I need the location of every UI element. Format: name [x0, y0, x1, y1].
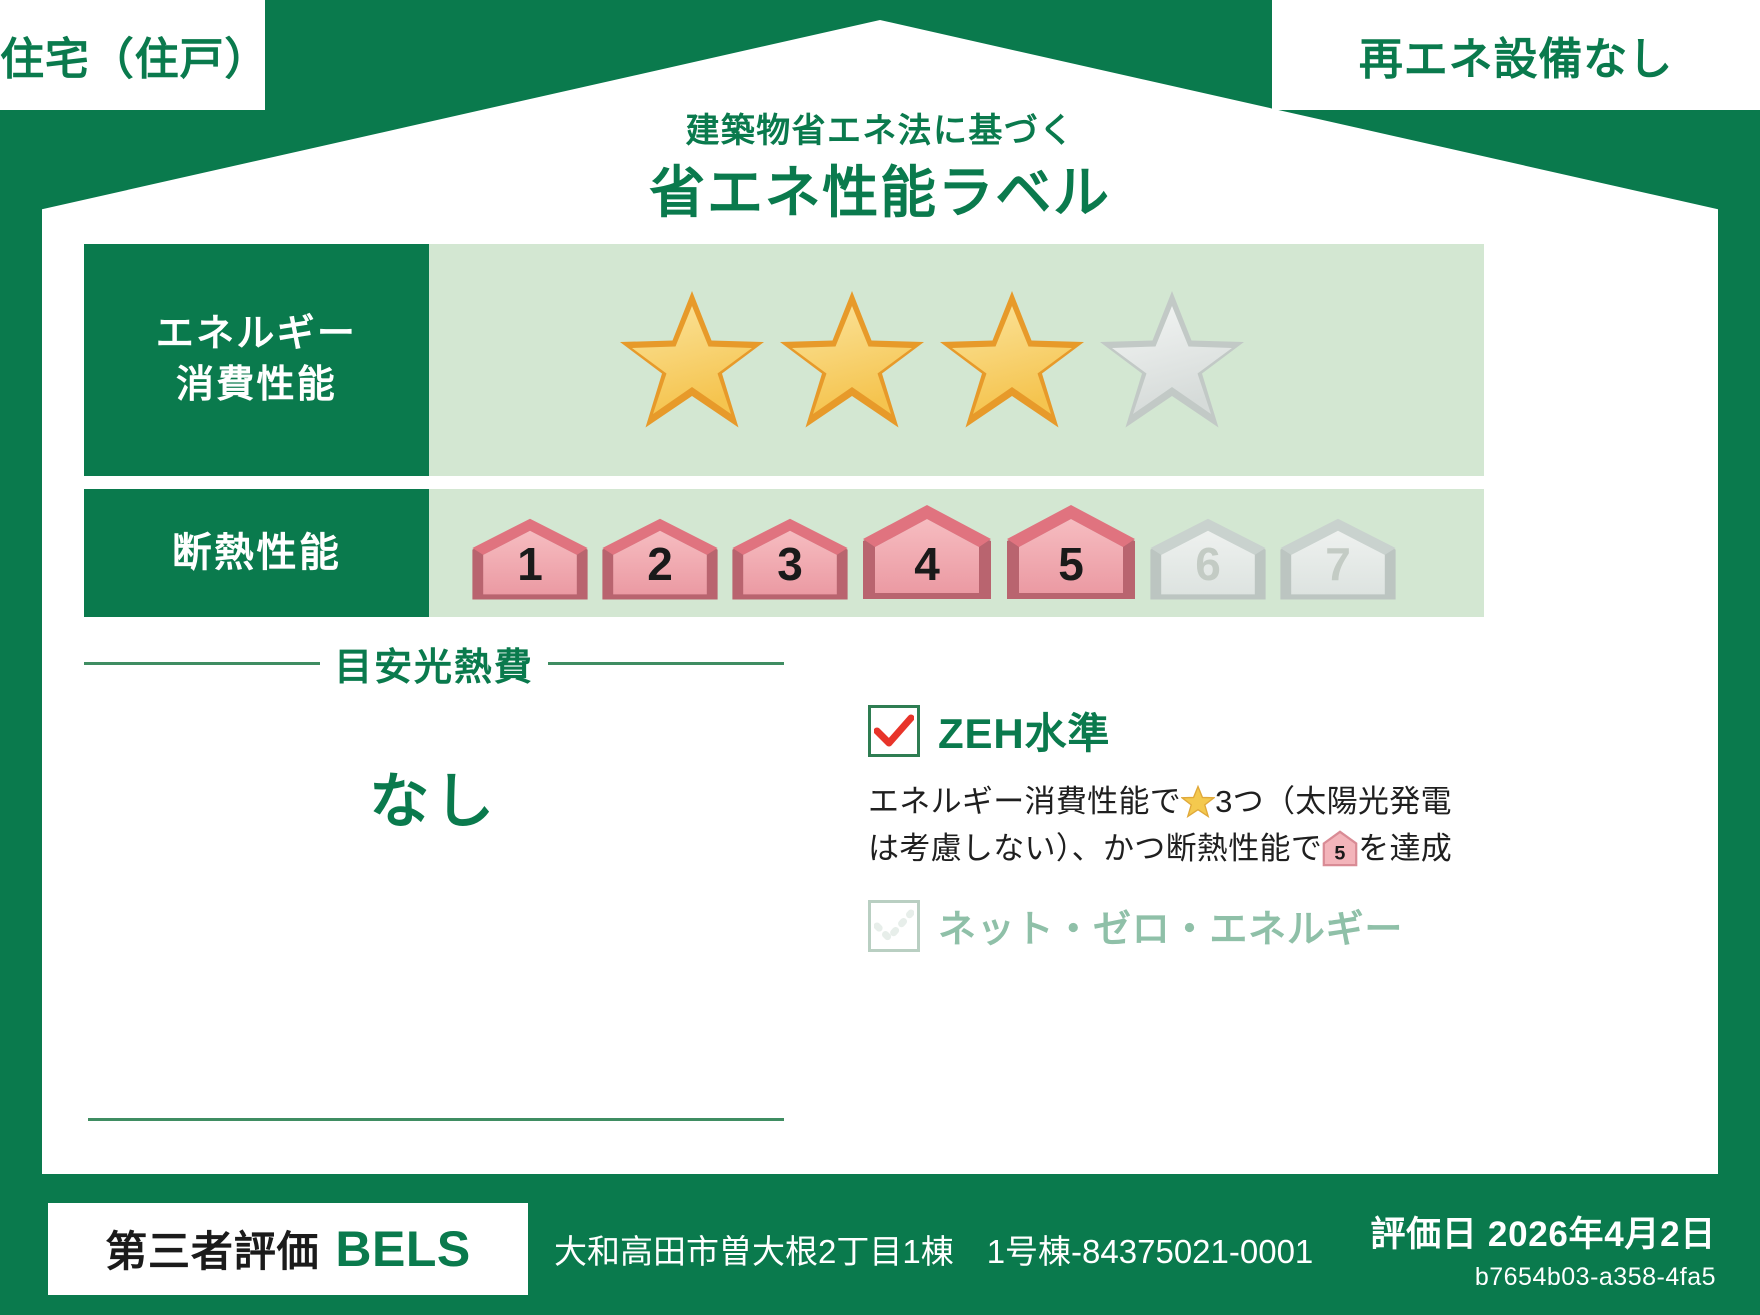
- bels-badge: 第三者評価 BELS: [48, 1203, 528, 1295]
- insulation-label-text: 断熱性能: [172, 526, 342, 580]
- insulation-performance-row: 断熱性能 1234567: [84, 489, 1484, 617]
- property-address: 大和高田市曽大根2丁目1棟 1号棟-84375021-0001: [554, 1225, 1313, 1273]
- zeh-description: エネルギー消費性能で 3つ（太陽光発電 は考慮しない）、かつ断熱性能で 5 を達…: [868, 779, 1484, 872]
- inline-star-icon: [1181, 785, 1215, 818]
- third-party-evaluation-label: 第三者評価: [105, 1218, 319, 1279]
- building-type-label: 住宅（住戸）: [0, 23, 265, 87]
- building-type-badge: 住宅（住戸）: [0, 0, 265, 110]
- utility-cost-title: 目安光熱費: [334, 636, 534, 691]
- insulation-grade-value: 7: [1275, 537, 1401, 591]
- zeh-desc-part2: は考慮しない）、かつ断熱性能で: [868, 831, 1322, 866]
- bels-energy-label: 住宅（住戸） 再エネ設備なし 建築物省エネ法に基づく 省エネ性能ラベル エネルギ…: [0, 0, 1760, 1315]
- evaluation-date: 評価日 2026年4月2日: [1370, 1206, 1716, 1257]
- energy-performance-row: エネルギー 消費性能: [84, 244, 1484, 476]
- insulation-grade-5: 5: [1001, 503, 1141, 603]
- net-zero-checkbox[interactable]: [868, 900, 920, 952]
- net-zero-title: ネット・ゼロ・エネルギー: [938, 898, 1403, 953]
- energy-label-line1: エネルギー: [156, 309, 357, 360]
- inline-grade-icon: 5: [1322, 829, 1358, 867]
- footer: 第三者評価 BELS 大和高田市曽大根2丁目1棟 1号棟-84375021-00…: [0, 1182, 1760, 1315]
- insulation-grade-value: 1: [467, 537, 593, 591]
- net-zero-heading: ネット・ゼロ・エネルギー: [868, 898, 1484, 953]
- insulation-grade-6: 6: [1145, 517, 1271, 603]
- insulation-grade-scale: 1234567: [467, 503, 1401, 603]
- rule-right: [548, 662, 784, 665]
- energy-performance-label: エネルギー 消費性能: [84, 244, 429, 476]
- insulation-grade-1: 1: [467, 517, 593, 603]
- zeh-heading: ZEH水準: [868, 700, 1484, 761]
- utility-cost-underline: [88, 1118, 784, 1121]
- insulation-performance-label: 断熱性能: [84, 489, 429, 617]
- renewable-equipment-label: 再エネ設備なし: [1359, 23, 1673, 87]
- zeh-desc-part1: エネルギー消費性能で: [868, 784, 1181, 819]
- insulation-grade-value: 6: [1145, 537, 1271, 591]
- insulation-grade-2: 2: [597, 517, 723, 603]
- insulation-grade-value: 3: [727, 537, 853, 591]
- energy-label-line2: 消費性能: [176, 360, 337, 411]
- utility-cost-value: なし: [84, 753, 784, 840]
- energy-performance-value: [429, 244, 1484, 476]
- insulation-grade-7: 7: [1275, 517, 1401, 603]
- zeh-desc-star: 3つ（太陽光発電: [1215, 784, 1452, 819]
- insulation-performance-value: 1234567: [429, 489, 1484, 617]
- label-subtitle: 建築物省エネ法に基づく: [0, 103, 1760, 152]
- insulation-grade-3: 3: [727, 517, 853, 603]
- bels-logo-text: BELS: [335, 1220, 470, 1278]
- label-title: 省エネ性能ラベル: [0, 148, 1760, 229]
- evaluation-id: b7654b03-a358-4fa5: [1370, 1263, 1716, 1292]
- zeh-checkbox[interactable]: [868, 705, 920, 757]
- insulation-grade-4: 4: [857, 503, 997, 603]
- insulation-grade-value: 4: [857, 537, 997, 591]
- check-icon: [874, 714, 914, 748]
- renewable-equipment-badge: 再エネ設備なし: [1272, 0, 1760, 110]
- check-icon-empty: [874, 909, 914, 943]
- star-icon-filled: [777, 288, 927, 432]
- star-icon-filled: [937, 288, 1087, 432]
- insulation-grade-value: 2: [597, 537, 723, 591]
- star-rating: [617, 288, 1247, 432]
- star-icon-filled: [617, 288, 767, 432]
- utility-cost-block: 目安光熱費 なし: [84, 636, 784, 840]
- insulation-grade-value: 5: [1001, 537, 1141, 591]
- footer-meta: 評価日 2026年4月2日 b7654b03-a358-4fa5: [1370, 1206, 1716, 1292]
- inline-grade-value: 5: [1335, 842, 1346, 864]
- star-icon-empty: [1097, 288, 1247, 432]
- zeh-desc-part3: を達成: [1358, 831, 1452, 866]
- zeh-title: ZEH水準: [938, 700, 1110, 761]
- zeh-block: ZEH水準 エネルギー消費性能で 3つ（太陽光発電 は考慮しない）、かつ断熱性能…: [868, 700, 1484, 953]
- rule-left: [84, 662, 320, 665]
- utility-cost-heading: 目安光熱費: [84, 636, 784, 691]
